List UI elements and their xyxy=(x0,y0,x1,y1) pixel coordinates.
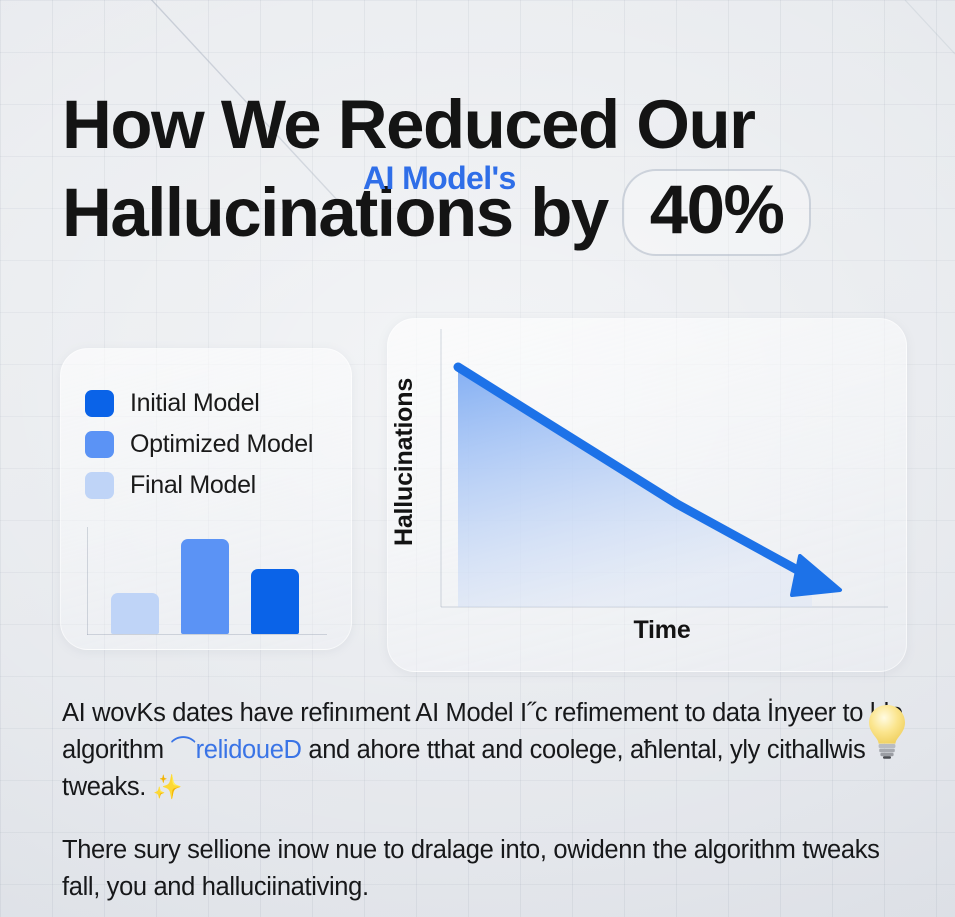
body-paragraph-1: AI wovKs dates have refinıment AI Model … xyxy=(62,695,907,806)
bar-optimized-model xyxy=(181,539,229,634)
arrow-down-right-icon xyxy=(792,556,840,595)
chart-legend: Initial Model Optimized Model Final Mode… xyxy=(85,383,351,506)
line-chart-y-axis-label: Hallucinations xyxy=(390,367,419,557)
stat-badge: 40% xyxy=(622,169,812,256)
legend-bar-chart-card: Initial Model Optimized Model Final Mode… xyxy=(60,348,352,650)
page-title-line-1: How We Reduced Our xyxy=(0,90,955,159)
bar-final-model xyxy=(111,593,159,634)
bar-chart-y-axis xyxy=(87,527,88,635)
body-copy: AI wovKs dates have refinıment AI Model … xyxy=(62,695,907,906)
mini-bar-chart xyxy=(87,527,327,635)
sparkles-icon: ✨ xyxy=(153,773,183,801)
legend-label-final-model: Final Model xyxy=(130,471,256,500)
infographic-poster: How We Reduced Our AI Model's Hallucinat… xyxy=(0,0,955,917)
headline-block: How We Reduced Our AI Model's Hallucinat… xyxy=(0,90,955,256)
page-subtitle-accent: AI Model's xyxy=(363,160,516,197)
bar-chart-x-axis xyxy=(87,634,327,635)
bar-initial-model xyxy=(251,569,299,634)
legend-item-optimized-model[interactable]: Optimized Model xyxy=(85,424,351,465)
body-paragraph-2: There sury sellione inow nue to dralage … xyxy=(62,832,907,906)
legend-label-optimized-model: Optimized Model xyxy=(130,430,313,459)
lightbulb-icon xyxy=(865,703,909,759)
legend-item-final-model[interactable]: Final Model xyxy=(85,465,351,506)
legend-swatch-initial-model xyxy=(85,390,114,417)
legend-swatch-optimized-model xyxy=(85,431,114,458)
legend-item-initial-model[interactable]: Initial Model xyxy=(85,383,351,424)
page-title-line-2-text: Hallucinations by xyxy=(62,178,608,247)
charts-row: Initial Model Optimized Model Final Mode… xyxy=(0,318,955,673)
legend-label-initial-model: Initial Model xyxy=(130,389,260,418)
legend-swatch-final-model xyxy=(85,472,114,499)
line-chart-x-axis-label: Time xyxy=(388,616,906,645)
paragraph-1-accent-token: ⌒relidoueD xyxy=(170,736,301,764)
line-chart-card: Hallucinations Time xyxy=(387,318,907,672)
